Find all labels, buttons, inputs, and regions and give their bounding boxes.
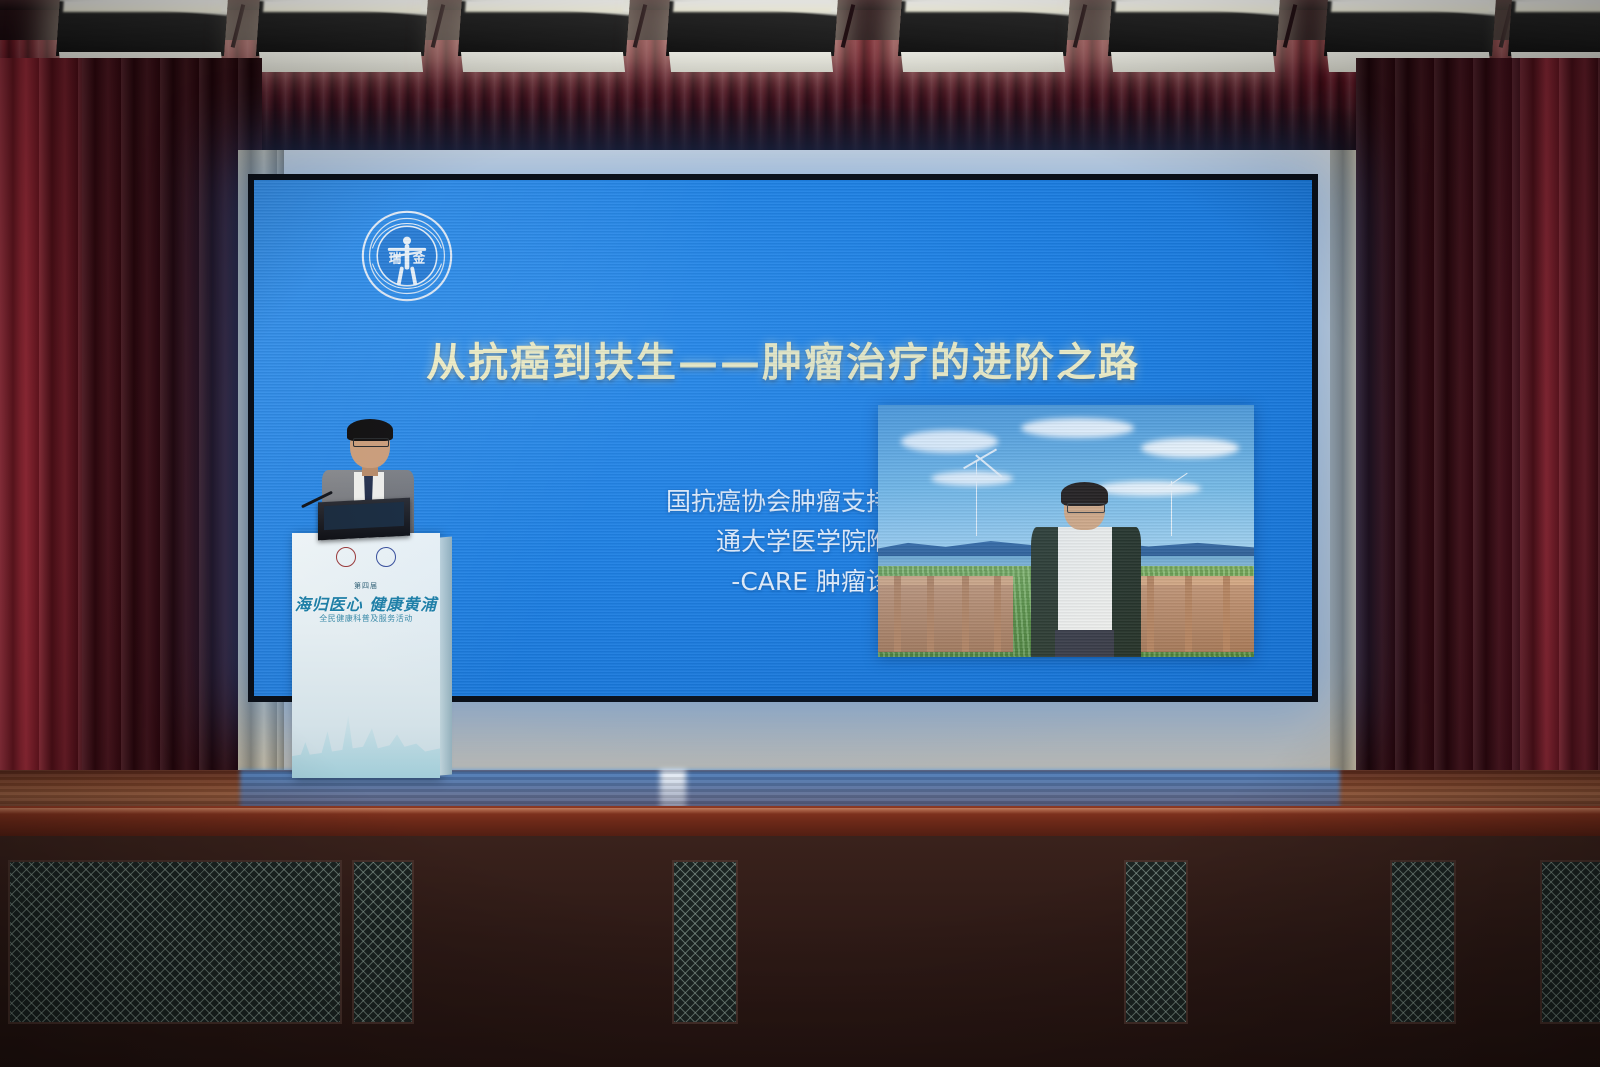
lectern-podium: 第四届 海归医心 健康黄浦 全民健康科普及服务活动 <box>292 533 440 778</box>
stage-apron-wall <box>0 836 1600 1067</box>
svg-text:金: 金 <box>412 251 426 266</box>
curtain-left-dark <box>82 58 262 788</box>
stage-light-2 <box>258 0 426 56</box>
podium-skyline-graphic <box>292 700 440 778</box>
stage-light-1 <box>58 0 226 56</box>
podium-logo-right-icon <box>376 547 396 567</box>
stage-floor <box>0 770 1600 810</box>
presenter-laptop <box>318 498 410 541</box>
portrait-subject <box>1028 486 1141 657</box>
ruijin-hospital-emblem-icon: 瑞 金 <box>359 208 455 304</box>
curtain-right-dark <box>1356 58 1532 788</box>
slide-title: 从抗癌到扶生——肿瘤治疗的进阶之路 <box>254 330 1312 388</box>
stage-apron-lip <box>0 806 1600 838</box>
vent-grille-2 <box>672 860 738 1024</box>
auditorium-stage-scene: 瑞 金 从抗癌到扶生——肿瘤治疗的进阶之路 俊 国抗癌协会肿瘤支持治疗专委会 通… <box>0 0 1600 1067</box>
stage-light-6 <box>1110 0 1278 56</box>
vent-grille-1 <box>8 860 342 1024</box>
vent-grille-4 <box>1390 860 1456 1024</box>
stage-light-4 <box>668 0 836 56</box>
podium-logos <box>292 547 440 567</box>
curtain-right-red <box>1520 58 1600 788</box>
podium-subtitle: 全民健康科普及服务活动 <box>292 613 440 624</box>
curtain-left-red <box>0 58 92 788</box>
svg-text:瑞: 瑞 <box>389 251 402 266</box>
stage-light-5 <box>900 0 1068 56</box>
vent-grille-6 <box>352 860 414 1024</box>
podium-main-title: 海归医心 健康黄浦 <box>292 591 440 615</box>
stage-light-7 <box>1326 0 1494 56</box>
podium-logo-left-icon <box>336 547 356 567</box>
podium-edition-label: 第四届 <box>292 581 440 591</box>
vent-grille-3 <box>1124 860 1188 1024</box>
stage-light-3 <box>460 0 628 56</box>
stage-light-8 <box>1510 0 1600 56</box>
slide-portrait-photo <box>878 405 1254 657</box>
vent-grille-5 <box>1540 860 1600 1024</box>
